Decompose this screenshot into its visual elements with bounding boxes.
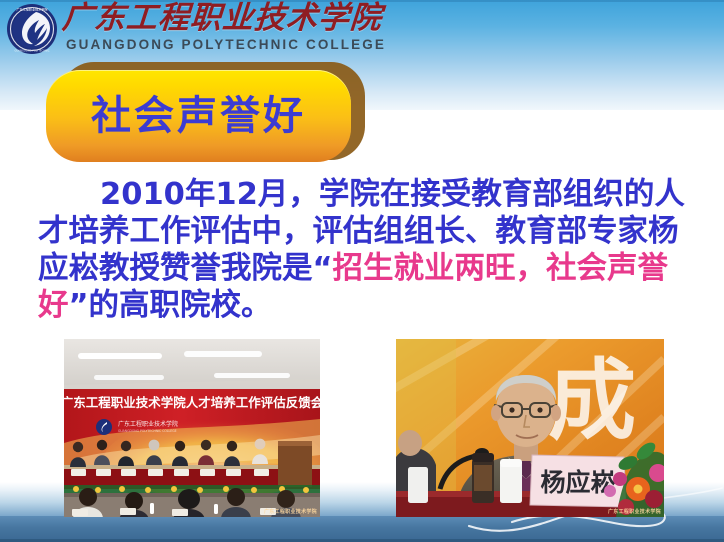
svg-text:GUANGDONG POLYTECHNIC COLLEGE: GUANGDONG POLYTECHNIC COLLEGE [118, 429, 177, 433]
professor-yang-image: 成 [396, 339, 664, 517]
banner-body: 社会声誉好 [46, 70, 351, 162]
photo-watermark-left: 广东工程职业技术学院 [264, 508, 317, 515]
presentation-slide: 广东工程职业技术学院 GUANGDONG POLYTECHNIC 广东工程职业技… [0, 0, 724, 542]
college-crest-icon: 广东工程职业技术学院 GUANGDONG POLYTECHNIC [6, 3, 58, 55]
body-line-4-suffix: ”的高职院校。 [69, 288, 272, 323]
body-highlight-1: 招生就业两旺， [333, 251, 547, 286]
nameplate: 杨应崧 [530, 455, 626, 507]
backdrop-calligraphy: 成 [548, 348, 636, 452]
svg-text:广东工程职业技术学院: 广东工程职业技术学院 [118, 420, 178, 428]
feedback-meeting-image: 广东工程职业技术学院人才培养工作评估反馈会 广东工程职业技术学院 GUANGDO… [64, 339, 320, 517]
feedback-meeting-photo: 广东工程职业技术学院人才培养工作评估反馈会 广东工程职业技术学院 GUANGDO… [64, 339, 320, 517]
photo-banner-text: 广东工程职业技术学院人才培养工作评估反馈会 [64, 395, 320, 410]
school-name-english: GUANGDONG POLYTECHNIC COLLEGE [66, 37, 386, 52]
photo-watermark-right: 广东工程职业技术学院 [608, 508, 661, 515]
slide-title-banner: 社会声誉好 [38, 62, 368, 162]
svg-text:GUANGDONG POLYTECHNIC: GUANGDONG POLYTECHNIC [15, 49, 50, 53]
body-line-1: 2010年12月，学院在接受教育部组织的 [100, 177, 654, 212]
school-name-chinese: 广东工程职业技术学院 [61, 0, 394, 38]
slide-body-paragraph: 2010年12月，学院在接受教育部组织的人才培养工作评估中，评估组组长、教育部专… [38, 176, 698, 324]
slide-header: 广东工程职业技术学院 GUANGDONG POLYTECHNIC 广东工程职业技… [0, 0, 724, 60]
svg-text:广东工程职业技术学院: 广东工程职业技术学院 [17, 7, 48, 12]
professor-yang-photo: 成 [396, 339, 664, 517]
slide-title-text: 社会声誉好 [91, 96, 306, 136]
